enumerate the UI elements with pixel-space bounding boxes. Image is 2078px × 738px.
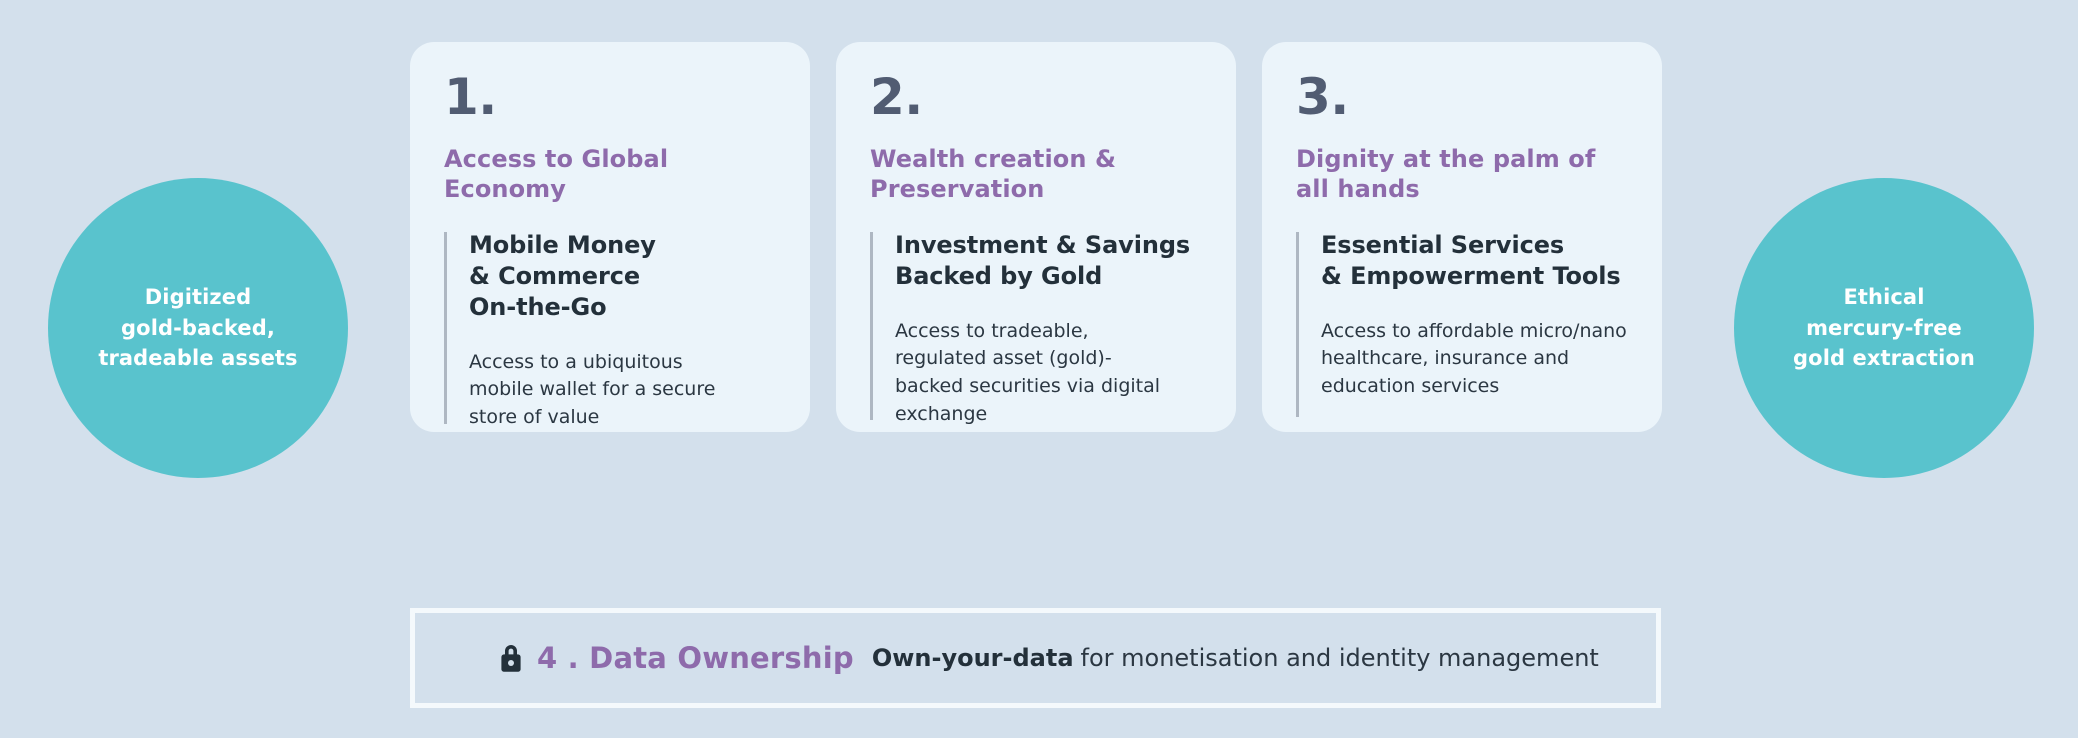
card-3-heading: Essential Services & Empowerment Tools bbox=[1321, 230, 1628, 291]
card-2-description: Access to tradeable, regulated asset (go… bbox=[895, 318, 1202, 428]
infographic-canvas: Digitized gold-backed, tradeable assets … bbox=[0, 0, 2078, 738]
card-1-subtitle: Access to Global Economy bbox=[444, 144, 776, 204]
left-teal-circle: Digitized gold-backed, tradeable assets bbox=[48, 178, 348, 478]
pillar-card-2[interactable]: 2. Wealth creation & Preservation Invest… bbox=[836, 42, 1236, 432]
card-3-subtitle: Dignity at the palm of all hands bbox=[1296, 144, 1628, 204]
vertical-rule-icon bbox=[1296, 232, 1299, 417]
left-circle-label: Digitized gold-backed, tradeable assets bbox=[98, 282, 297, 373]
bar-number-label: 4 . Data Ownership bbox=[537, 641, 854, 675]
card-2-body: Investment & Savings Backed by Gold Acce… bbox=[870, 230, 1202, 428]
bar-text-group: Own-your-data for monetisation and ident… bbox=[872, 644, 1599, 672]
card-2-subtitle: Wealth creation & Preservation bbox=[870, 144, 1202, 204]
right-teal-circle: Ethical mercury-free gold extraction bbox=[1734, 178, 2034, 478]
pillar-card-1[interactable]: 1. Access to Global Economy Mobile Money… bbox=[410, 42, 810, 432]
card-1-heading: Mobile Money & Commerce On-the-Go bbox=[469, 230, 776, 322]
bar-strong-text: Own-your-data bbox=[872, 644, 1074, 672]
vertical-rule-icon bbox=[444, 232, 447, 424]
card-1-number: 1. bbox=[444, 72, 776, 122]
card-3-number: 3. bbox=[1296, 72, 1628, 122]
vertical-rule-icon bbox=[870, 232, 873, 420]
card-2-heading: Investment & Savings Backed by Gold bbox=[895, 230, 1202, 291]
card-3-description: Access to affordable micro/nano healthca… bbox=[1321, 318, 1628, 401]
card-1-body: Mobile Money & Commerce On-the-Go Access… bbox=[444, 230, 776, 431]
right-circle-label: Ethical mercury-free gold extraction bbox=[1793, 282, 1975, 373]
data-ownership-bar[interactable]: 4 . Data Ownership Own-your-data for mon… bbox=[410, 608, 1661, 708]
card-3-body: Essential Services & Empowerment Tools A… bbox=[1296, 230, 1628, 400]
card-2-number: 2. bbox=[870, 72, 1202, 122]
card-1-description: Access to a ubiquitous mobile wallet for… bbox=[469, 349, 776, 432]
lock-icon bbox=[497, 642, 525, 674]
bar-rest-text: for monetisation and identity management bbox=[1081, 644, 1599, 672]
pillar-card-3[interactable]: 3. Dignity at the palm of all hands Esse… bbox=[1262, 42, 1662, 432]
